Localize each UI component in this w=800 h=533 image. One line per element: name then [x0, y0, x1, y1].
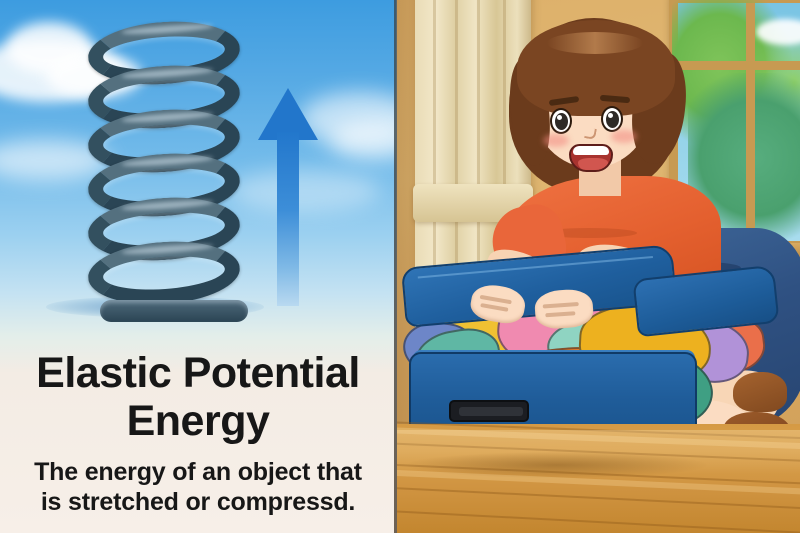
- floor-plank-line: [397, 508, 800, 533]
- page-subtitle-line-2: is stretched or compressd.: [0, 487, 396, 517]
- left-illustration-panel: Elastic Potential Energy The energy of a…: [0, 0, 396, 533]
- coil-spring: [88, 22, 258, 332]
- suitcase-handle: [449, 400, 529, 422]
- cloud-shape: [330, 120, 396, 160]
- arrow-shaft: [277, 132, 299, 306]
- poster-root: Elastic Potential Energy The energy of a…: [0, 0, 800, 533]
- up-arrow-icon: [258, 88, 318, 306]
- right-photo-panel: [397, 0, 800, 533]
- suitcase-floor-shadow: [407, 452, 707, 478]
- spring-bottom-coil: [100, 300, 248, 322]
- caption-block: Elastic Potential Energy The energy of a…: [0, 352, 396, 517]
- panel-divider: [394, 0, 397, 533]
- page-subtitle-line-1: The energy of an object that: [0, 457, 396, 487]
- page-title-line-1: Elastic Potential: [0, 352, 396, 396]
- page-title-line-2: Energy: [0, 398, 396, 444]
